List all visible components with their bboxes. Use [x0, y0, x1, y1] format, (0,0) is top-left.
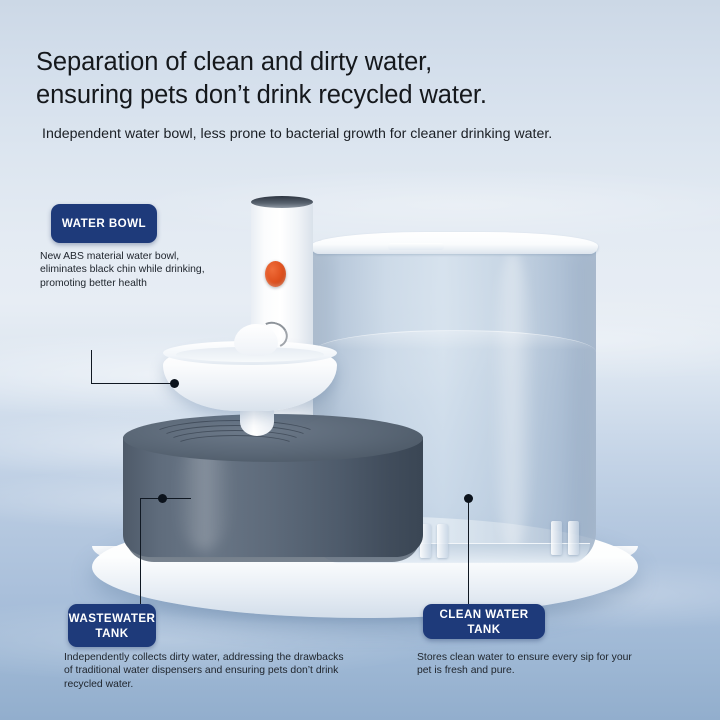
tank-clip	[437, 524, 448, 558]
leader-line-water-bowl	[91, 383, 174, 384]
vent-groove	[174, 435, 296, 457]
callout-dot-clean-tank	[464, 494, 473, 503]
callout-dot-wastewater	[158, 494, 167, 503]
leader-line-wastewater	[140, 498, 141, 604]
callout-dot-water-bowl	[170, 379, 179, 388]
callout-description-wastewater-tank: Independently collects dirty water, addr…	[64, 651, 376, 691]
power-button-icon	[265, 261, 286, 287]
callout-badge-clean-water-tank[interactable]: CLEAN WATER TANK	[423, 604, 545, 639]
clean-water-tank-lid	[311, 232, 598, 254]
clean-water-tank-lid-notch	[388, 243, 444, 250]
callout-badge-water-bowl[interactable]: WATER BOWL	[51, 204, 157, 243]
leader-line-water-bowl	[91, 350, 92, 384]
tank-clip	[568, 521, 579, 555]
callout-badge-wastewater-tank[interactable]: WASTEWATER TANK	[68, 604, 156, 647]
tank-highlight	[490, 252, 536, 552]
tank-clip	[551, 521, 562, 555]
dispenser-tower-cap	[251, 196, 313, 208]
callout-description-clean-water-tank: Stores clean water to ensure every sip f…	[417, 651, 667, 678]
leader-line-clean-tank	[468, 498, 469, 604]
callout-description-water-bowl: New ABS material water bowl, eliminates …	[40, 250, 255, 290]
infographic-canvas: Separation of clean and dirty water, ens…	[0, 0, 720, 720]
